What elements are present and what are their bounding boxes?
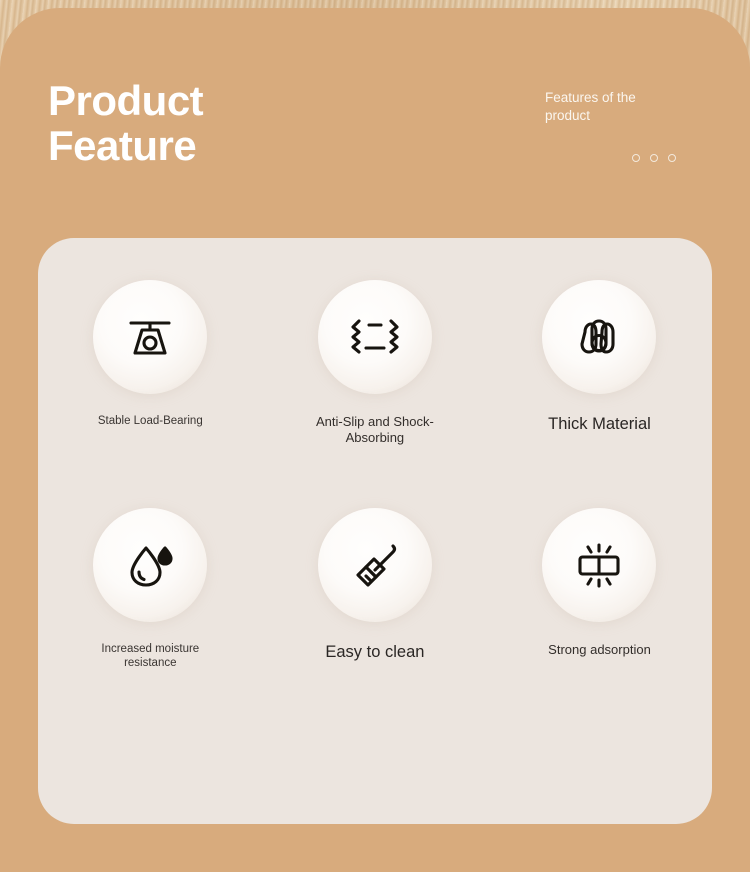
feature-label: Increased moisture resistance xyxy=(101,642,199,670)
header-subtitle: Features of the product xyxy=(545,89,675,124)
carousel-dot[interactable] xyxy=(668,154,676,162)
feature-label: Thick Material xyxy=(548,414,651,434)
adsorption-panel-icon xyxy=(542,508,656,622)
rolled-material-icon xyxy=(542,280,656,394)
feature-row: Stable Load-Bearing Anti-Slip and Shock-… xyxy=(38,280,712,446)
kitchen-scale-icon xyxy=(93,280,207,394)
shock-absorbing-spring-icon xyxy=(318,280,432,394)
feature-item-thick-material[interactable]: Thick Material xyxy=(487,280,712,446)
poster-page: Product Feature Features of the product xyxy=(0,0,750,872)
feature-item-increased-moisture-resistance[interactable]: Increased moisture resistance xyxy=(38,508,263,670)
feature-item-stable-load-bearing[interactable]: Stable Load-Bearing xyxy=(38,280,263,446)
feature-row: Increased moisture resistance Easy to cl… xyxy=(38,508,712,670)
feature-label: Stable Load-Bearing xyxy=(98,414,203,428)
carousel-dot[interactable] xyxy=(650,154,658,162)
feature-label: Strong adsorption xyxy=(548,642,651,658)
water-droplet-icon xyxy=(93,508,207,622)
feature-label: Easy to clean xyxy=(325,642,424,662)
feature-item-strong-adsorption[interactable]: Strong adsorption xyxy=(487,508,712,670)
feature-label: Anti-Slip and Shock- Absorbing xyxy=(316,414,434,446)
feature-item-anti-slip-shock-absorbing[interactable]: Anti-Slip and Shock- Absorbing xyxy=(263,280,488,446)
feature-grid: Stable Load-Bearing Anti-Slip and Shock-… xyxy=(38,280,712,670)
feature-item-easy-to-clean[interactable]: Easy to clean xyxy=(263,508,488,670)
carousel-dot[interactable] xyxy=(632,154,640,162)
broom-icon xyxy=(318,508,432,622)
page-title: Product Feature xyxy=(48,78,203,169)
carousel-dots[interactable] xyxy=(632,154,676,162)
feature-card: Stable Load-Bearing Anti-Slip and Shock-… xyxy=(38,238,712,824)
